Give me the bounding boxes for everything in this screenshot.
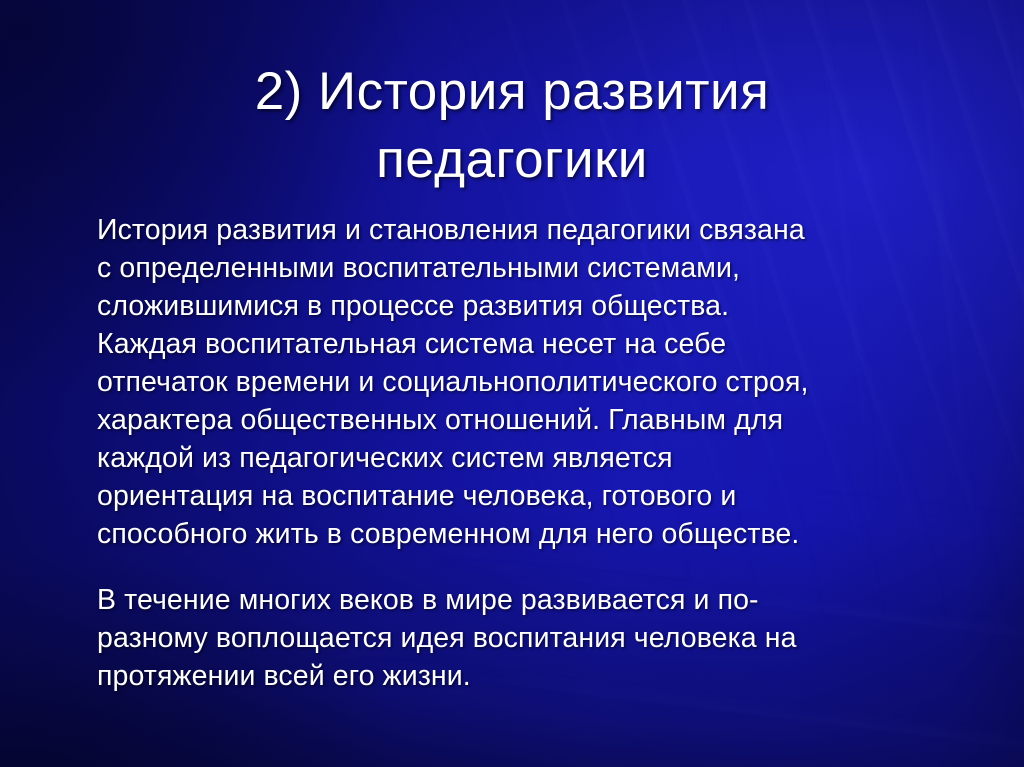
paragraph-1-line-4: Каждая воспитательная система несет на с… <box>97 325 957 363</box>
paragraph-2-line-2: разному воплощается идея воспитания чело… <box>97 619 957 657</box>
paragraph-1-line-1: История развития и становления педагогик… <box>97 211 957 249</box>
paragraph-1-line-2: с определенными воспитательными системам… <box>97 249 957 287</box>
paragraph-1-line-6: характера общественных отношений. Главны… <box>97 401 957 439</box>
slide-title: 2) История развития педагогики <box>0 58 1024 194</box>
paragraph-2-line-3: протяжении всей его жизни. <box>97 657 957 695</box>
paragraph-1-line-8: ориентация на воспитание человека, готов… <box>97 477 957 515</box>
paragraph-1-line-5: отпечаток времени и социальнополитическо… <box>97 363 957 401</box>
slide-title-line-1: 2) История развития <box>255 62 770 121</box>
presentation-slide: 2) История развития педагогики История р… <box>0 0 1024 767</box>
paragraph-1-line-3: сложившимися в процессе развития обществ… <box>97 287 957 325</box>
body-paragraph-1: История развития и становления педагогик… <box>97 211 957 553</box>
slide-title-line-2: педагогики <box>376 130 648 189</box>
slide-content: 2) История развития педагогики История р… <box>0 0 1024 767</box>
slide-body: История развития и становления педагогик… <box>97 182 957 724</box>
paragraph-1-line-9: способного жить в современном для него о… <box>97 515 957 553</box>
body-paragraph-2: В течение многих веков в мире развиваетс… <box>97 581 957 695</box>
paragraph-1-line-7: каждой из педагогических систем является <box>97 439 957 477</box>
paragraph-2-line-1: В течение многих веков в мире развиваетс… <box>97 581 957 619</box>
